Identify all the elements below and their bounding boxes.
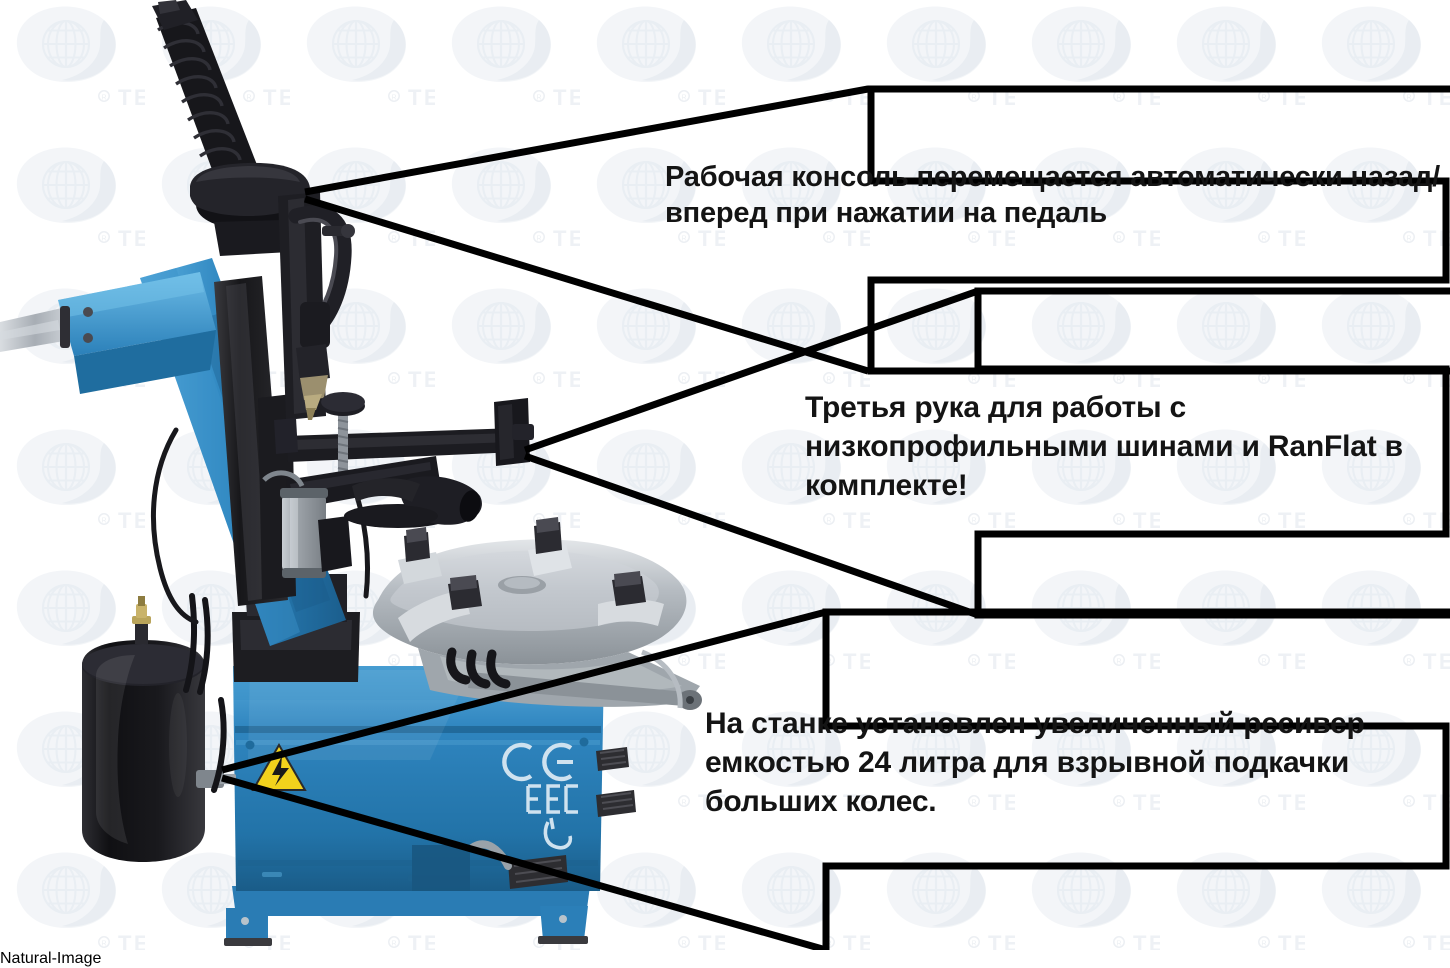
callout-text-third-arm: Третья рука для работы с низкопрофильным… [805, 388, 1440, 505]
machine-cabinet [233, 666, 604, 891]
tyre-changer-photo [0, 0, 760, 950]
pedals [472, 747, 636, 889]
air-hoses [186, 596, 224, 790]
bead-breaker-shovel [346, 478, 438, 527]
swing-arm [140, 258, 346, 646]
pedal-pictogram-icon [545, 818, 570, 848]
eac-marking [528, 786, 578, 812]
clamping-jaws [398, 517, 664, 642]
electrical-hazard-icon [253, 745, 305, 790]
bead-breaker-column [152, 0, 268, 216]
side-hose [642, 652, 680, 708]
callout-text-air-receiver: На станке установлен увеличенный ресивер… [705, 704, 1440, 821]
console-head [190, 163, 310, 256]
upper-housing [0, 272, 216, 394]
column-base [232, 574, 360, 682]
ce-marking [504, 745, 573, 779]
callout-text-working-console: Рабочая консоль перемещается автоматичес… [665, 160, 1440, 232]
control-cables [153, 430, 367, 622]
base-frame [224, 886, 590, 946]
turntable [373, 517, 702, 710]
screenshot-canvas: R ТЕХНОСОЮЗ [0, 0, 1450, 950]
air-receiver-tank [82, 596, 236, 862]
vertical-column [214, 276, 296, 606]
mount-demount-head [278, 192, 355, 420]
third-arm [264, 392, 534, 578]
